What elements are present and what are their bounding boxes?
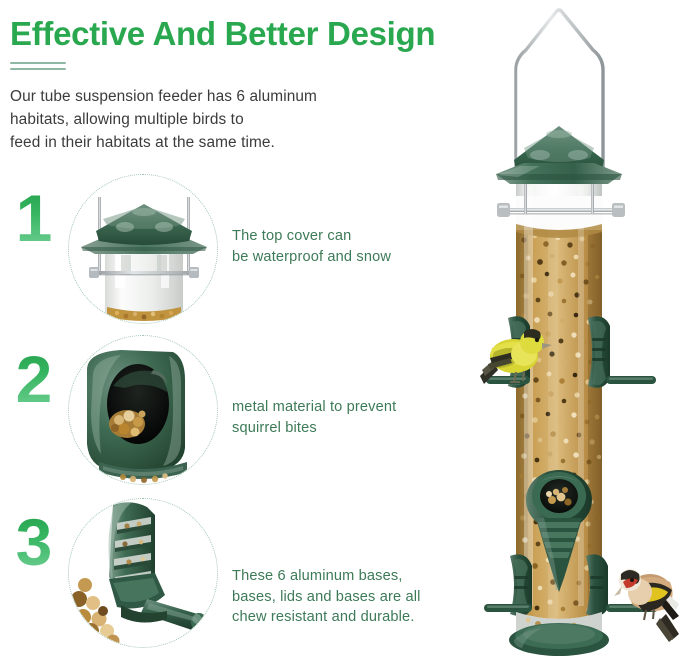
rule-line-top: [10, 62, 66, 64]
feature-row-2: 2: [0, 333, 480, 498]
title-underline-rule: [10, 62, 66, 70]
feature-text-2: metal material to prevent squirrel bites: [232, 397, 480, 438]
intro-line-3: feed in their habitats at the same time.: [10, 132, 480, 155]
feature-3-line-3: chew resistant and durable.: [232, 607, 480, 628]
feature-image-1-top-cover: [68, 174, 218, 324]
feature-image-3-aluminum-base-perch: [68, 498, 218, 648]
feature-row-1: 1: [0, 172, 480, 337]
intro-paragraph: Our tube suspension feeder has 6 aluminu…: [10, 86, 480, 154]
perch-right-upper: [606, 376, 656, 384]
feature-3-line-1: These 6 aluminum bases,: [232, 566, 480, 587]
intro-line-2: habitats, allowing multiple birds to: [10, 109, 480, 132]
infographic-page: Effective And Better Design Our tube sus…: [0, 0, 679, 670]
feature-image-2-metal-port: [68, 335, 218, 485]
intro-line-1: Our tube suspension feeder has 6 aluminu…: [10, 86, 480, 109]
perch-left-lower: [484, 604, 532, 612]
feature-number-1: 1: [6, 188, 62, 249]
feature-number-3: 3: [6, 512, 62, 573]
feature-3-line-2: bases, lids and bases are all: [232, 587, 480, 608]
feature-1-line-2: be waterproof and snow: [232, 247, 480, 268]
rule-line-bottom: [10, 68, 66, 70]
feature-row-3: 3: [0, 496, 480, 661]
feature-2-line-2: squirrel bites: [232, 418, 480, 439]
page-title: Effective And Better Design: [10, 16, 480, 53]
feature-2-line-1: metal material to prevent: [232, 397, 480, 418]
header-block: Effective And Better Design Our tube sus…: [10, 16, 480, 154]
product-photo-bird-feeder: [480, 0, 679, 670]
feature-1-line-1: The top cover can: [232, 226, 480, 247]
feature-text-1: The top cover can be waterproof and snow: [232, 226, 480, 267]
feature-text-3: These 6 aluminum bases, bases, lids and …: [232, 566, 480, 628]
feature-number-2: 2: [6, 349, 62, 410]
